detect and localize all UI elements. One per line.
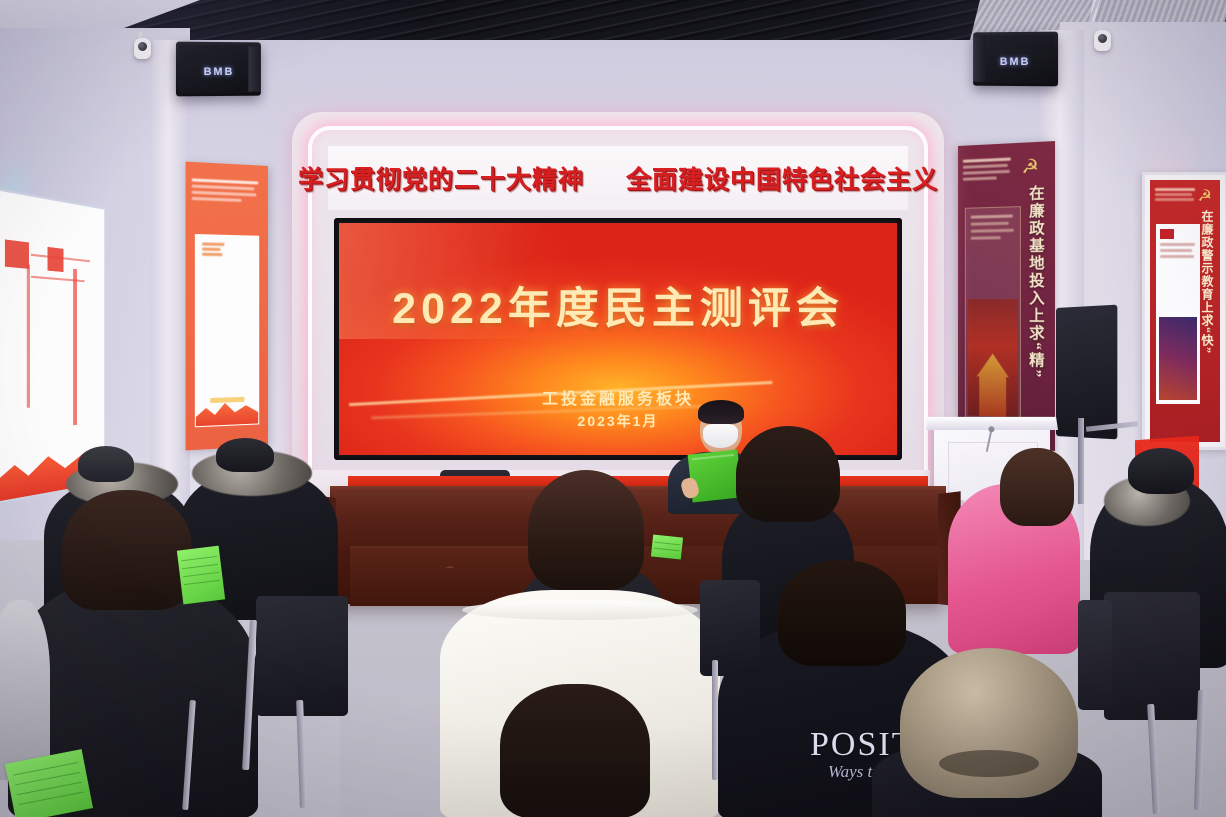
speaker-brand-right: BMB xyxy=(973,56,1058,68)
poster-right-vertical-text: 在廉政基地投入上求“精” xyxy=(1020,185,1047,380)
poster-left-card xyxy=(195,234,259,427)
screen-subtitle: 工投金融服务板块 xyxy=(339,385,897,409)
led-screen: 2022年度民主测评会 工投金融服务板块 2023年1月 xyxy=(339,223,897,455)
attendee-right-of-presenter-hair xyxy=(736,426,840,522)
attendee-far-left-light-coat xyxy=(0,600,50,780)
attendee-posit-jacket-hair xyxy=(778,560,906,666)
slogan-banner: 学习贯彻党的二十大精神 全面建设中国特色社会主义 xyxy=(328,146,908,210)
poster-far-right-framed: ☭ 在廉政警示教育上求“快” xyxy=(1142,172,1226,450)
green-evaluation-form xyxy=(651,534,683,559)
monitor-pole xyxy=(1078,418,1084,504)
screen-date: 2023年1月 xyxy=(339,411,897,431)
presenter-hair xyxy=(698,400,744,424)
attendee-front-left-hair xyxy=(62,490,192,610)
ceiling-speaker-left: BMB xyxy=(176,42,261,97)
attendee-white-puffer-hair xyxy=(500,684,650,817)
conference-room-photo: ☭ 在廉政基地投入上求“精” ☭ 在廉政警示教育上求“快” xyxy=(0,0,1226,817)
led-stage-frame: 学习贯彻党的二十大精神 全面建设中国特色社会主义 2022年度民主测评会 工投金… xyxy=(292,112,944,512)
poster-right-card xyxy=(965,206,1021,421)
poster-left-orange xyxy=(186,162,268,451)
right-side-monitor xyxy=(1056,305,1117,440)
party-emblem-icon: ☭ xyxy=(1019,156,1042,180)
chair-back-left xyxy=(256,596,348,716)
speaker-brand-left: BMB xyxy=(176,66,261,78)
party-emblem-icon-2: ☭ xyxy=(1198,186,1212,206)
chair-back-right xyxy=(1104,592,1200,720)
attendee-pink-coat-hair xyxy=(1000,448,1074,526)
chair-back-right-2 xyxy=(1078,600,1112,710)
led-screen-bezel: 2022年度民主测评会 工投金融服务板块 2023年1月 xyxy=(334,218,902,460)
security-camera-icon-2 xyxy=(1094,30,1111,51)
attendee-beanie-hat xyxy=(900,648,1078,798)
attendee-back-left-hair xyxy=(78,446,134,482)
poster-right-maroon: ☭ 在廉政基地投入上求“精” xyxy=(958,141,1055,451)
screen-title: 2022年度民主测评会 xyxy=(339,274,897,336)
chair-leg xyxy=(712,660,718,780)
attendee-center-left-hair xyxy=(528,470,644,590)
attendee-back-2-hair xyxy=(216,438,274,472)
attendee-far-right-hair xyxy=(1128,448,1194,494)
presenter-face-mask xyxy=(703,424,738,448)
banner-text-left: 学习贯彻党的二十大精神 xyxy=(298,160,584,196)
banner-text-right: 全面建设中国特色社会主义 xyxy=(626,160,938,196)
chair-back-center xyxy=(700,580,760,676)
security-camera-icon xyxy=(134,38,151,59)
white-puffer-hood xyxy=(462,600,698,620)
ceiling-speaker-right: BMB xyxy=(973,32,1058,87)
poster-left-heading xyxy=(192,178,262,221)
green-evaluation-form xyxy=(177,546,225,605)
